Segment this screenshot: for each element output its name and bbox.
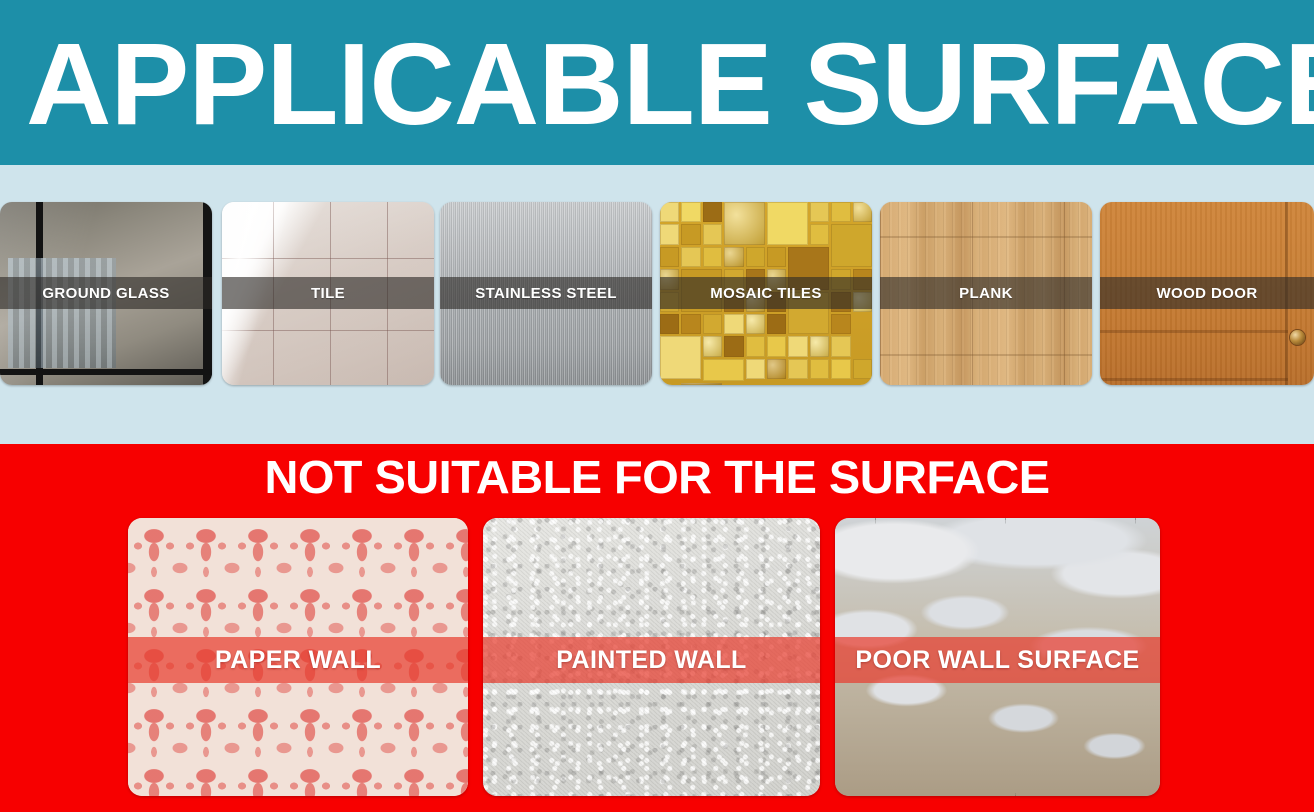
- surface-label-band: PAPER WALL: [128, 637, 468, 683]
- applicable-surfaces-section: GROUND GLASS TILE STAINLESS STEEL: [0, 165, 1314, 444]
- surface-label: PLANK: [959, 285, 1013, 302]
- plank-seam-horizontal: [880, 236, 1092, 238]
- not-suitable-surface-list: PAPER WALL PAINTED WALL POOR WALL SURFAC…: [0, 518, 1314, 798]
- plank-seam-horizontal: [880, 354, 1092, 356]
- applicable-header-band: APPLICABLE SURFACE: [0, 0, 1314, 165]
- applicable-surface-infographic: APPLICABLE SURFACE GROUND GLASS: [0, 0, 1314, 812]
- applicable-surface-list: GROUND GLASS TILE STAINLESS STEEL: [0, 202, 1314, 385]
- not-suitable-section: NOT SUITABLE FOR THE SURFACE PAPER WALL …: [0, 444, 1314, 812]
- surface-label-band: MOSAIC TILES: [660, 277, 872, 309]
- surface-card-wood-door[interactable]: WOOD DOOR: [1100, 202, 1314, 385]
- surface-label-band: WOOD DOOR: [1100, 277, 1314, 309]
- surface-label-band: STAINLESS STEEL: [440, 277, 652, 309]
- surface-card-poor-wall-surface[interactable]: POOR WALL SURFACE: [835, 518, 1160, 796]
- surface-label: PAINTED WALL: [556, 646, 746, 675]
- page-title: APPLICABLE SURFACE: [26, 26, 1314, 142]
- surface-label: GROUND GLASS: [42, 285, 169, 302]
- surface-label-band: TILE: [222, 277, 434, 309]
- surface-label: WOOD DOOR: [1156, 285, 1257, 302]
- surface-label: MOSAIC TILES: [710, 285, 821, 302]
- surface-label: POOR WALL SURFACE: [855, 646, 1139, 675]
- surface-card-paper-wall[interactable]: PAPER WALL: [128, 518, 468, 796]
- not-suitable-title: NOT SUITABLE FOR THE SURFACE: [0, 451, 1314, 503]
- surface-label-band: POOR WALL SURFACE: [835, 637, 1160, 683]
- surface-label-band: PAINTED WALL: [483, 637, 820, 683]
- surface-card-plank[interactable]: PLANK: [880, 202, 1092, 385]
- surface-label-band: PLANK: [880, 277, 1092, 309]
- door-rail: [1100, 378, 1288, 381]
- surface-card-mosaic-tiles[interactable]: MOSAIC TILES: [660, 202, 872, 385]
- door-rail: [1100, 330, 1288, 333]
- surface-card-painted-wall[interactable]: PAINTED WALL: [483, 518, 820, 796]
- surface-label: STAINLESS STEEL: [475, 285, 617, 302]
- glass-reflection: [8, 258, 116, 368]
- surface-card-stainless-steel[interactable]: STAINLESS STEEL: [440, 202, 652, 385]
- surface-label: PAPER WALL: [215, 646, 381, 675]
- surface-label-band: GROUND GLASS: [0, 277, 212, 309]
- door-knob-icon: [1290, 330, 1305, 345]
- surface-card-tile[interactable]: TILE: [222, 202, 434, 385]
- surface-card-ground-glass[interactable]: GROUND GLASS: [0, 202, 212, 385]
- surface-label: TILE: [311, 285, 345, 302]
